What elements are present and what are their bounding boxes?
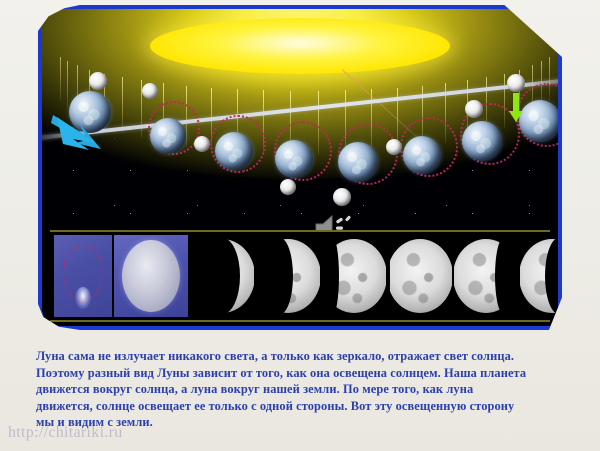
caption-line: движется, солнце освещает ее только с од…: [36, 398, 576, 415]
earth-sphere: [275, 140, 313, 178]
moon-photo-disc: [520, 239, 558, 313]
mini-earth-glow: [75, 287, 91, 309]
sun-ray: [60, 57, 61, 101]
caption-text: Луна сама не излучает никакого света, а …: [36, 348, 576, 431]
filmstrip-frame[interactable]: [322, 235, 386, 317]
moon-phase-filmstrip[interactable]: [50, 230, 550, 322]
earth-sphere: [519, 100, 558, 142]
caption-line: Поэтому разный вид Луны зависит от того,…: [36, 365, 576, 382]
moon-sphere: [386, 139, 402, 155]
moon-sphere: [280, 179, 296, 195]
moon-sphere: [89, 72, 107, 90]
moon-sphere: [507, 74, 525, 92]
sun-ray: [122, 77, 123, 133]
earth-sphere: [150, 118, 186, 154]
moon-photo-disc: [454, 239, 518, 313]
moon-terminator-shadow: [388, 238, 390, 315]
moon-sphere: [194, 136, 210, 152]
source-watermark: http://chitariki.ru: [8, 424, 123, 442]
moon-photo-disc: [322, 239, 386, 313]
slide-frame: [38, 5, 562, 330]
earth-sphere: [462, 121, 502, 161]
earth-sphere: [215, 132, 253, 170]
caption-line: Луна сама не излучает никакого света, а …: [36, 348, 576, 365]
earth-sphere: [338, 142, 378, 182]
moon-photo-disc: [256, 239, 320, 313]
filmstrip-frame[interactable]: [520, 235, 558, 317]
filmstrip-frame[interactable]: [114, 235, 188, 317]
earth-sphere: [403, 136, 441, 174]
moon-sphere: [142, 83, 158, 99]
moon-sphere: [465, 100, 483, 118]
moon-sphere: [333, 188, 351, 206]
slide-canvas: [42, 9, 558, 326]
filmstrip-frame[interactable]: [190, 235, 254, 317]
filmstrip-frame[interactable]: [454, 235, 518, 317]
moon-highlight-arrow: [508, 93, 524, 123]
moon-terminator-shadow: [495, 238, 518, 315]
pale-moon-disc: [122, 240, 180, 312]
moon-terminator-shadow: [322, 238, 339, 315]
filmstrip-frame[interactable]: [256, 235, 320, 317]
filmstrip-frame[interactable]: [54, 235, 112, 317]
page-background: Луна сама не излучает никакого света, а …: [0, 0, 600, 451]
sun-ray: [67, 61, 68, 108]
moon-terminator-shadow: [256, 238, 293, 315]
caption-line: движется вокруг солнца, а луна вокруг на…: [36, 381, 576, 398]
moon-photo-disc: [190, 239, 254, 313]
filmstrip-frame[interactable]: [388, 235, 452, 317]
sun-disc: [150, 18, 450, 74]
moon-terminator-shadow: [190, 238, 240, 315]
moon-terminator-shadow: [545, 238, 558, 315]
moon-photo-disc: [388, 239, 452, 313]
